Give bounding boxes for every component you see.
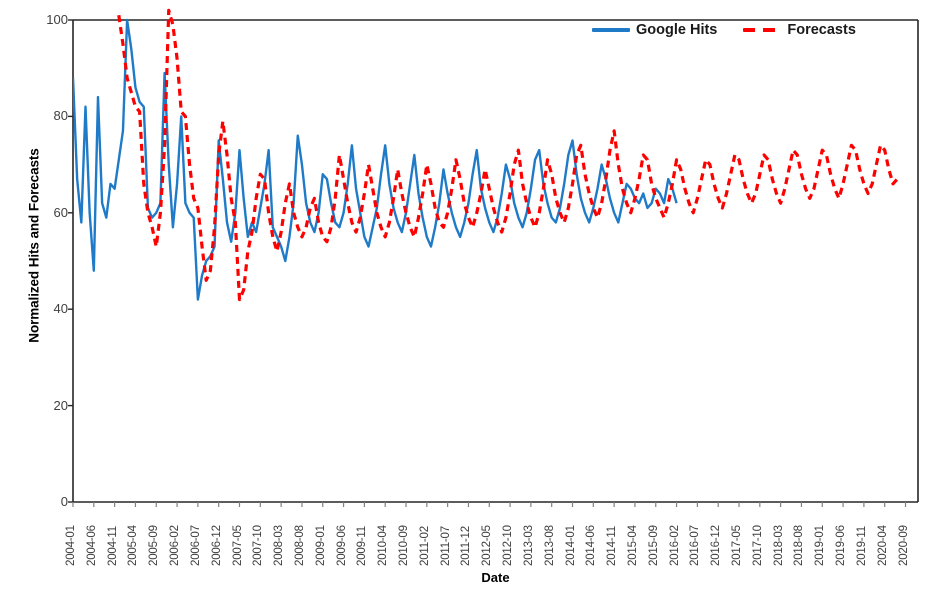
chart-legend: Google Hits Forecasts [592, 22, 856, 38]
x-axis-tick-label: 2019-01 [814, 525, 826, 566]
x-axis-tick-label: 2017-10 [752, 525, 764, 566]
x-axis-tick-label: 2005-09 [148, 525, 160, 566]
x-axis-tick-label: 2012-10 [502, 525, 514, 566]
chart-container: Normalized Hits and Forecasts Date 02040… [0, 0, 929, 606]
x-axis-tick-label: 2016-02 [669, 525, 681, 566]
x-axis-tick-label: 2008-03 [273, 525, 285, 566]
x-axis-tick-label: 2004-01 [65, 525, 77, 566]
x-axis-tick-label: 2013-08 [544, 525, 556, 566]
legend-item-forecasts: Forecasts [743, 22, 856, 38]
x-axis-tick-label: 2005-04 [127, 525, 139, 566]
legend-label-google-hits: Google Hits [636, 22, 717, 38]
x-axis-tick-label: 2016-12 [710, 525, 722, 566]
x-axis-tick-label: 2018-03 [773, 525, 785, 566]
x-axis-tick-label: 2006-02 [169, 525, 181, 566]
x-axis-tick-label: 2009-01 [315, 525, 327, 566]
x-axis-tick-label: 2009-11 [356, 526, 368, 566]
x-axis-tick-label: 2019-06 [835, 525, 847, 566]
x-axis-tick-label: 2014-06 [585, 525, 597, 566]
x-axis-tick-label: 2017-05 [731, 525, 743, 566]
x-axis-tick-label: 2010-09 [398, 525, 410, 566]
x-axis-tick-label: 2006-12 [211, 525, 223, 566]
x-axis-tick-label: 2004-06 [86, 525, 98, 566]
x-axis-tick-label: 2012-05 [481, 525, 493, 566]
x-axis-tick-label: 2020-04 [877, 525, 889, 566]
x-axis-tick-label: 2011-12 [460, 526, 472, 566]
x-axis-tick-label: 2008-08 [294, 525, 306, 566]
legend-label-forecasts: Forecasts [787, 22, 856, 38]
x-axis-tick-label: 2016-07 [689, 525, 701, 566]
x-axis-tick-label: 2007-05 [232, 525, 244, 566]
x-axis-tick-label: 2018-08 [793, 525, 805, 566]
x-axis-tick-label: 2015-04 [627, 525, 639, 566]
x-axis-tick-labels: 2004-012004-062004-112005-042005-092006-… [0, 0, 929, 606]
x-axis-tick-label: 2011-07 [440, 526, 452, 566]
x-axis-tick-label: 2004-11 [107, 526, 119, 566]
x-axis-tick-label: 2010-04 [377, 525, 389, 566]
x-axis-tick-label: 2019-11 [856, 526, 868, 566]
x-axis-tick-label: 2006-07 [190, 525, 202, 566]
x-axis-tick-label: 2015-09 [648, 525, 660, 566]
x-axis-tick-label: 2014-01 [565, 525, 577, 566]
x-axis-tick-label: 2013-03 [523, 525, 535, 566]
x-axis-tick-label: 2007-10 [252, 525, 264, 566]
legend-swatch-dashed-icon [743, 28, 781, 32]
x-axis-tick-label: 2011-02 [419, 526, 431, 566]
x-axis-tick-label: 2014-11 [606, 526, 618, 566]
legend-item-google-hits: Google Hits [592, 22, 717, 38]
x-axis-tick-label: 2009-06 [336, 525, 348, 566]
legend-swatch-solid-icon [592, 28, 630, 32]
x-axis-tick-label: 2020-09 [898, 525, 910, 566]
